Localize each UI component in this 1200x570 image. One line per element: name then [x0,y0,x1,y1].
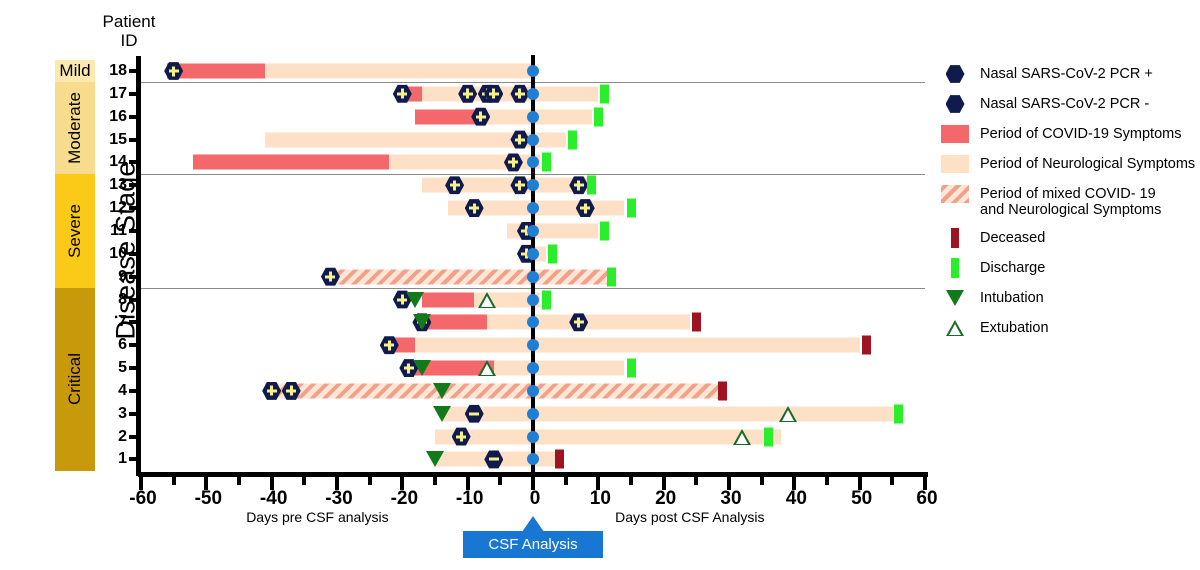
legend-item-extubation[interactable]: Extubation [938,318,1196,338]
deceased-icon [692,313,701,332]
patient-id-label: 9 [93,268,127,286]
csf-analysis-point [527,294,539,306]
csf-analysis-callout[interactable]: CSF Analysis [463,531,603,558]
x-axis-tick-label: -60 [113,488,173,510]
stage-label: Mild [59,61,90,81]
discharge-icon [568,130,577,149]
patient-id-label: 3 [93,405,127,423]
legend-item-label: Nasal SARS-CoV-2 PCR - [980,94,1149,112]
patient-id-label: 10 [93,245,127,263]
x-axis-tick-label: 40 [766,488,826,510]
patient-id-label: 4 [93,382,127,400]
patient-id-label: 18 [93,62,127,80]
legend-item-label: Extubation [980,318,1049,336]
y-axis-tick [129,366,141,370]
legend-item-label: Period of mixed COVID- 19and Neurologica… [980,184,1161,218]
y-axis-tick [129,206,141,210]
patient-id-header-line2: ID [90,31,168,50]
y-axis-tick [129,298,141,302]
swatch-mixed-icon [938,184,972,204]
x-axis-caption-right: Days post CSF Analysis [600,509,780,525]
y-axis-tick [129,183,141,187]
y-axis-tick [129,412,141,416]
timeline-bar-covid [422,292,474,307]
csf-analysis-point [527,88,539,100]
y-axis-tick [129,115,141,119]
csf-arrow-icon [522,516,544,532]
intubation-icon [406,292,424,308]
x-axis-minor-tick [172,477,176,485]
intubation-icon [413,360,431,376]
discharge-icon [587,176,596,195]
x-axis-tick-label: -20 [374,488,434,510]
discharge-icon [594,107,603,126]
extubation-icon [478,292,496,308]
csf-analysis-point [527,316,539,328]
legend-item-label: Deceased [980,228,1045,246]
csf-analysis-point [527,362,539,374]
x-axis-minor-tick [694,477,698,485]
timeline-bar-covid [422,315,487,330]
discharge-icon [627,359,636,378]
timeline-bar-neuro [389,338,859,353]
x-axis-minor-tick [368,477,372,485]
x-axis-minor-tick [498,477,502,485]
patient-id-label: 16 [93,108,127,126]
patient-id-label: 7 [93,313,127,331]
discharge-icon [542,153,551,172]
patient-id-label: 13 [93,176,127,194]
swatch-neuro-icon [938,154,972,174]
legend-item-covid-period[interactable]: Period of COVID-19 Symptoms [938,124,1196,144]
stage-label: Critical [65,353,85,405]
discharge-icon [607,267,616,286]
csf-analysis-point [527,453,539,465]
stage-block-mild: Mild [55,60,95,83]
legend-item-discharge[interactable]: Discharge [938,258,1196,278]
patient-id-header: Patient ID [90,12,168,50]
y-axis-tick [129,92,141,96]
timeline-bar-neuro [442,406,899,421]
extubation-icon [779,406,797,422]
timeline-bar-neuro [265,64,533,79]
legend-item-pcr-negative[interactable]: Nasal SARS-CoV-2 PCR - [938,94,1196,114]
timeline-bar-neuro [435,429,781,444]
legend-item-deceased[interactable]: Deceased [938,228,1196,248]
csf-analysis-point [527,111,539,123]
y-axis-tick [129,457,141,461]
legend-item-label: Intubation [980,288,1044,306]
intubation-icon [433,406,451,422]
x-axis-minor-tick [433,477,437,485]
discharge-icon [600,221,609,240]
intubation-icon [426,451,444,467]
triangle-down-icon [938,288,972,308]
x-axis-minor-tick [825,477,829,485]
csf-analysis-point [527,339,539,351]
y-axis-tick [129,252,141,256]
discharge-icon [894,404,903,423]
x-axis-minor-tick [302,477,306,485]
csf-analysis-point [527,156,539,168]
x-axis-tick-label: 60 [897,488,957,510]
stage-label: Moderate [65,92,85,164]
x-axis-caption-left: Days pre CSF analysis [227,509,407,525]
hex-plus-icon [938,64,972,84]
stage-block-severe: Severe [55,174,95,288]
x-axis-tick-label: 10 [570,488,630,510]
csf-analysis-point [527,134,539,146]
discharge-icon [764,427,773,446]
discharge-icon [548,244,557,263]
legend-item-pcr-positive[interactable]: Nasal SARS-CoV-2 PCR + [938,64,1196,84]
x-axis-tick-label: -30 [309,488,369,510]
csf-analysis-point [527,385,539,397]
csf-analysis-point [527,202,539,214]
stage-block-moderate: Moderate [55,82,95,173]
csf-analysis-point [527,225,539,237]
legend-item-label: Discharge [980,258,1045,276]
x-axis-tick-label: -10 [440,488,500,510]
csf-analysis-point [527,179,539,191]
extubation-icon [478,360,496,376]
patient-id-label: 1 [93,450,127,468]
patient-id-label: 15 [93,131,127,149]
deceased-icon [862,336,871,355]
csf-analysis-point [527,271,539,283]
x-axis-minor-tick [760,477,764,485]
x-axis-minor-tick [564,477,568,485]
legend-item-intubation[interactable]: Intubation [938,288,1196,308]
x-axis-minor-tick [629,477,633,485]
timeline-bar-mixed [337,269,611,284]
legend-item-neuro-period[interactable]: Period of Neurological Symptoms [938,154,1196,174]
deceased-icon [718,381,727,400]
timeline-bar-neuro [422,86,598,101]
csf-analysis-point [527,408,539,420]
x-axis-tick-label: -40 [244,488,304,510]
intubation-icon [433,383,451,399]
y-axis-tick [129,343,141,347]
y-axis-tick [129,69,141,73]
y-axis-tick [129,160,141,164]
x-axis-tick-label: 50 [832,488,892,510]
timeline-bar-mixed [265,383,722,398]
legend-item-label: Period of Neurological Symptoms [980,154,1195,172]
legend-item-label: Period of COVID-19 Symptoms [980,124,1181,142]
bar-green-icon [938,258,972,278]
patient-id-label: 14 [93,153,127,171]
plot-area: 181716151413121110987654321 [141,58,925,472]
y-axis-tick [129,320,141,324]
triangle-up-icon [938,318,972,338]
patient-id-label: 5 [93,359,127,377]
legend: Nasal SARS-CoV-2 PCR +Nasal SARS-CoV-2 P… [938,64,1196,348]
y-axis-tick [129,229,141,233]
stage-label: Severe [65,204,85,258]
disease-stage-band: MildModerateSevereCritical [55,58,95,472]
y-axis-tick [129,389,141,393]
hex-minus-icon [938,94,972,114]
legend-item-mixed-period[interactable]: Period of mixed COVID- 19and Neurologica… [938,184,1196,218]
csf-analysis-point [527,248,539,260]
patient-id-label: 8 [93,291,127,309]
timeline-bar-covid [415,109,480,124]
patient-id-label: 2 [93,428,127,446]
swatch-covid-icon [938,124,972,144]
legend-item-label: Nasal SARS-CoV-2 PCR + [980,64,1153,82]
x-axis-minor-tick [237,477,241,485]
stage-block-critical: Critical [55,288,95,471]
x-axis-tick-label: 20 [636,488,696,510]
bar-dark-red-icon [938,228,972,248]
x-axis-minor-tick [890,477,894,485]
patient-id-label: 17 [93,85,127,103]
patient-id-header-line1: Patient [90,12,168,31]
y-axis-tick [129,275,141,279]
intubation-icon [413,314,431,330]
discharge-icon [627,199,636,218]
patient-id-label: 6 [93,336,127,354]
csf-analysis-point [527,431,539,443]
x-axis-tick-label: -50 [178,488,238,510]
discharge-icon [600,84,609,103]
x-axis-tick-label: 30 [701,488,761,510]
csf-analysis-point [527,65,539,77]
y-axis-tick [129,435,141,439]
y-axis-tick [129,138,141,142]
patient-id-label: 11 [93,222,127,240]
timeline-bar-covid [193,155,389,170]
swimmer-plot-figure: Disease Stage MildModerateSevereCritical… [0,0,1200,570]
extubation-icon [733,429,751,445]
deceased-icon [555,450,564,469]
patient-id-label: 12 [93,199,127,217]
discharge-icon [542,290,551,309]
x-axis-tick-label: 0 [505,488,565,510]
